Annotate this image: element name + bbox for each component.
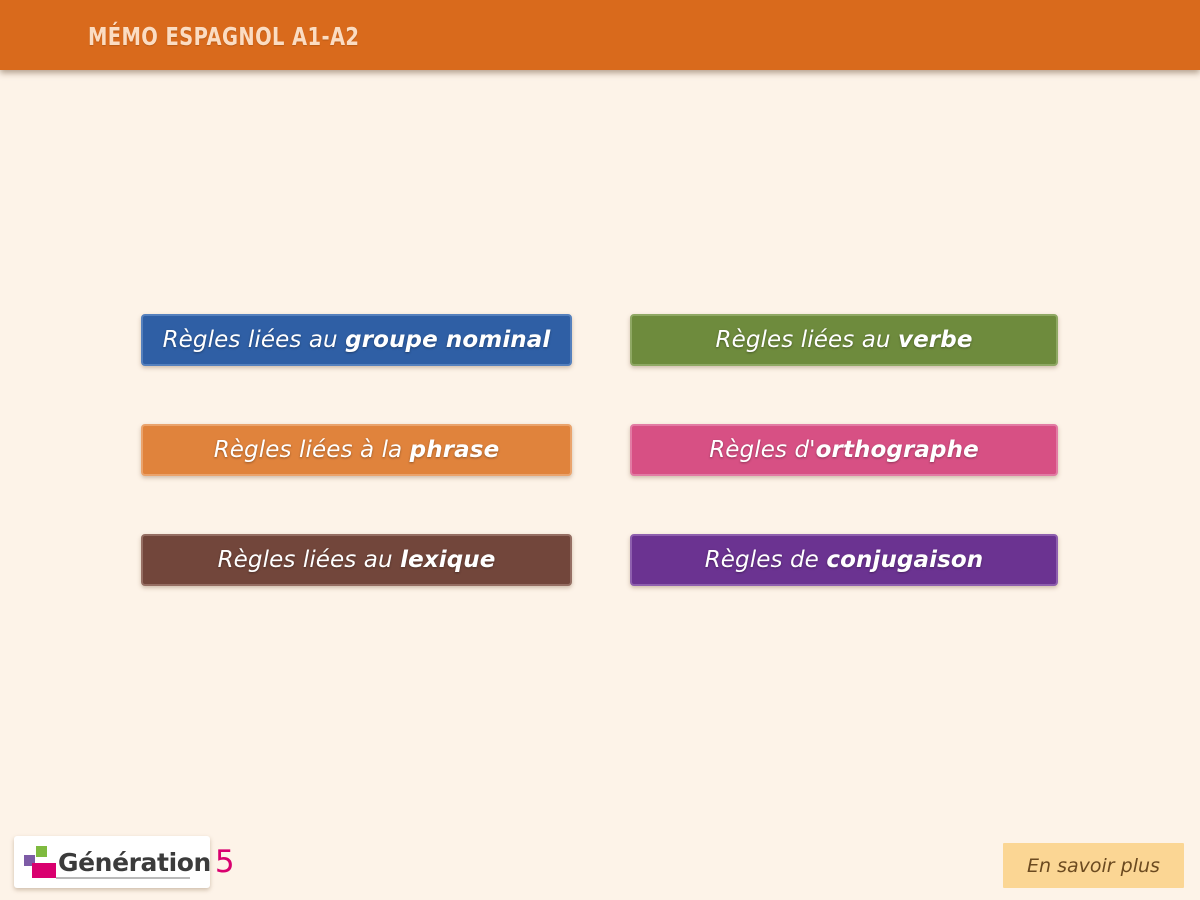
menu-button-label-prefix: Règles liées au	[715, 327, 898, 353]
logo-squares-icon	[24, 845, 56, 879]
menu-button-label: Règles d'orthographe	[709, 437, 979, 463]
app-header-bar: MÉMO ESPAGNOL A1-A2	[0, 0, 1200, 70]
menu-button-label: Règles liées à la phrase	[214, 437, 500, 463]
logo-square-green-icon	[36, 846, 47, 857]
menu-button-verbe[interactable]: Règles liées au verbe	[630, 314, 1058, 366]
menu-button-label: Règles liées au groupe nominal	[163, 327, 551, 353]
menu-button-label-prefix: Règles liées à la	[214, 437, 410, 463]
menu-button-orthographe[interactable]: Règles d'orthographe	[630, 424, 1058, 476]
menu-button-label-prefix: Règles liées au	[163, 327, 346, 353]
more-info-button[interactable]: En savoir plus	[1003, 843, 1184, 888]
menu-button-groupe-nominal[interactable]: Règles liées au groupe nominal	[141, 314, 572, 366]
menu-button-conjugaison[interactable]: Règles de conjugaison	[630, 534, 1058, 586]
generation5-logo[interactable]: Génération 5	[14, 836, 210, 888]
menu-button-label: Règles liées au lexique	[218, 547, 496, 573]
menu-button-label-emphasis: conjugaison	[826, 547, 983, 573]
menu-button-label-prefix: Règles liées au	[218, 547, 401, 573]
menu-button-phrase[interactable]: Règles liées à la phrase	[141, 424, 572, 476]
menu-button-label-emphasis: lexique	[400, 547, 495, 573]
menu-button-label-emphasis: orthographe	[816, 437, 979, 463]
menu-button-label-prefix: Règles de	[705, 547, 827, 573]
logo-numeral: 5	[215, 847, 235, 878]
page-title: MÉMO ESPAGNOL A1-A2	[88, 22, 359, 51]
logo-underline	[56, 877, 190, 879]
menu-button-label: Règles de conjugaison	[705, 547, 984, 573]
menu-button-lexique[interactable]: Règles liées au lexique	[141, 534, 572, 586]
menu-button-label-prefix: Règles d'	[709, 437, 815, 463]
more-info-label: En savoir plus	[1027, 855, 1160, 877]
logo-square-magenta-icon	[32, 863, 56, 878]
menu-button-label-emphasis: phrase	[410, 437, 500, 463]
menu-button-label-emphasis: verbe	[898, 327, 973, 353]
menu-button-label-emphasis: groupe nominal	[345, 327, 550, 353]
logo-wordmark: Génération	[58, 850, 211, 875]
menu-stage: Règles liées au groupe nominal Règles li…	[0, 70, 1200, 830]
menu-button-label: Règles liées au verbe	[715, 327, 972, 353]
